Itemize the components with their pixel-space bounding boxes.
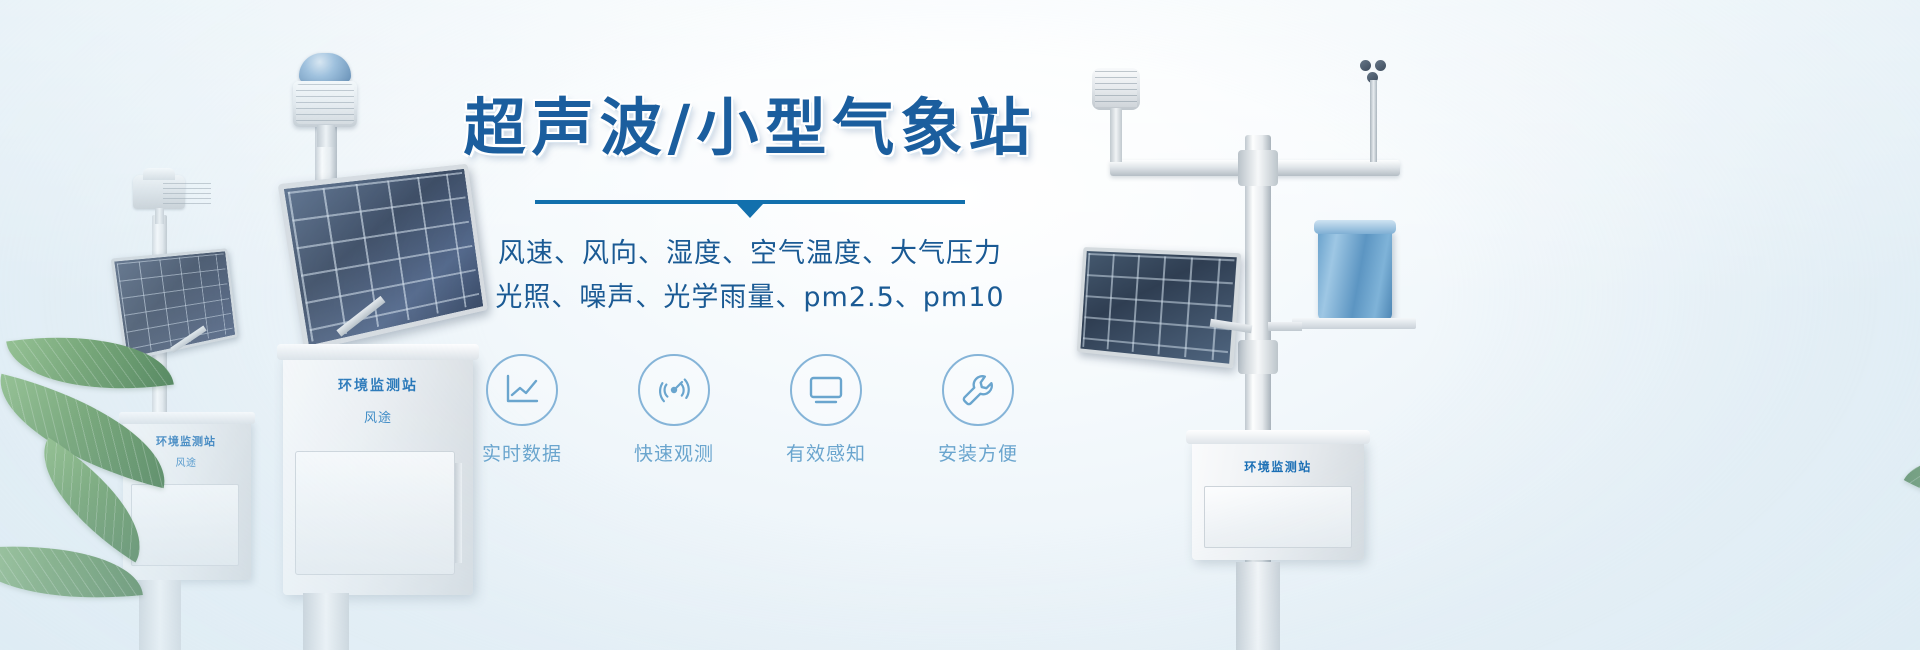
banner-content: 超声波/小型气象站 风速、风向、湿度、空气温度、大气压力 光照、噪声、光学雨量、… xyxy=(440,95,1060,466)
weather-station-right: 环境监测站 xyxy=(1060,50,1440,650)
feature-label: 有效感知 xyxy=(774,439,878,466)
ultrasonic-sensor xyxy=(1092,68,1140,110)
solar-cells xyxy=(117,253,234,355)
chevron-down-icon xyxy=(737,204,763,218)
sensor-stem xyxy=(155,208,164,224)
line-chart-icon xyxy=(486,354,558,426)
mast-collar-lower xyxy=(1238,340,1278,374)
cabinet-door xyxy=(131,484,239,566)
sky-dome-sensor xyxy=(299,53,351,83)
product-banner: 环境监测站 风途 环境监测站 风途 xyxy=(0,0,1920,650)
solar-cells xyxy=(1082,253,1234,361)
feature-item-effective-sensing[interactable]: 有效感知 xyxy=(774,354,878,466)
ultrasonic-sensor-stem xyxy=(1110,108,1122,162)
sensor-fins xyxy=(1095,71,1137,107)
monitor-icon xyxy=(790,354,862,426)
feature-item-fast-observation[interactable]: 快速观测 xyxy=(622,354,726,466)
sensor-fins xyxy=(296,84,354,124)
rain-gauge-shelf xyxy=(1292,318,1416,329)
anemometer-cup xyxy=(1375,60,1386,71)
anemometer-stem xyxy=(1370,80,1377,162)
cabinet-label: 环境监测站 xyxy=(1202,458,1354,475)
radiation-shield-sensor xyxy=(133,175,185,209)
mast-base xyxy=(139,580,181,650)
page-title: 超声波/小型气象站 xyxy=(440,95,1060,160)
feature-label: 安装方便 xyxy=(926,439,1030,466)
radiation-shield-sensor xyxy=(293,81,357,127)
cabinet-label: 环境监测站 xyxy=(295,375,461,395)
subtitle-line-1: 风速、风向、湿度、空气温度、大气压力 xyxy=(440,232,1060,276)
rain-gauge xyxy=(1318,228,1392,320)
feature-list: 实时数据 快速观测 xyxy=(440,354,1060,466)
cabinet-label: 环境监测站 xyxy=(133,433,239,449)
anemometer-cup xyxy=(1360,60,1371,71)
leaf-blade xyxy=(1904,424,1920,551)
cabinet-door xyxy=(295,451,455,575)
cabinet-hinge xyxy=(455,463,462,563)
feature-label: 快速观测 xyxy=(622,439,726,466)
feature-item-realtime-data[interactable]: 实时数据 xyxy=(470,354,574,466)
wrench-icon xyxy=(942,354,1014,426)
cabinet-lid xyxy=(1186,430,1370,444)
solar-panel xyxy=(1077,247,1242,368)
subtitle-line-2: 光照、噪声、光学雨量、pm2.5、pm10 xyxy=(440,276,1060,320)
sensor-stem xyxy=(317,125,335,147)
mast-base xyxy=(303,593,349,650)
brand-logo-label: 风途 xyxy=(295,407,461,426)
sensor-fins xyxy=(163,183,211,205)
cabinet-door xyxy=(1204,486,1352,548)
feature-label: 实时数据 xyxy=(470,439,574,466)
divider xyxy=(535,194,965,214)
cabinet-lid xyxy=(119,412,255,424)
feature-item-easy-installation[interactable]: 安装方便 xyxy=(926,354,1030,466)
rain-gauge-arm xyxy=(1268,322,1302,331)
control-cabinet: 环境监测站 xyxy=(1192,440,1364,560)
mast-collar-upper xyxy=(1238,150,1278,186)
radar-signal-icon xyxy=(638,354,710,426)
mast-base xyxy=(1236,562,1280,650)
